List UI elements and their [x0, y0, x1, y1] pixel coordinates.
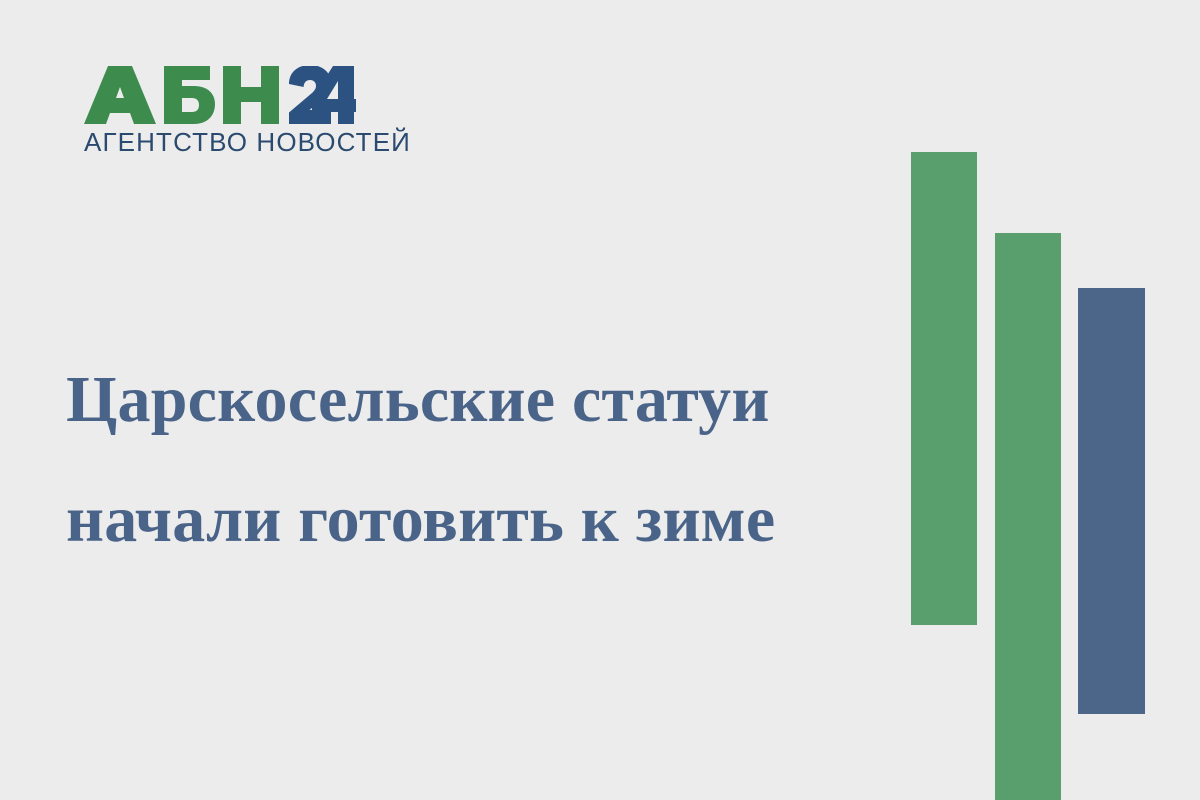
headline-line-1: Царскосельские статуи: [66, 340, 866, 460]
page-title: Царскосельские статуи начали готовить к …: [66, 340, 866, 580]
bar-tall-green: [911, 152, 977, 625]
abn24-logo[interactable]: АГЕНТСТВО НОВОСТЕЙ: [84, 66, 374, 158]
logo-tagline: АГЕНТСТВО НОВОСТЕЙ: [84, 131, 380, 157]
headline-line-2: начали готовить к зиме: [66, 460, 866, 580]
bar-mid-green: [995, 233, 1061, 800]
news-card: АГЕНТСТВО НОВОСТЕЙ Царскосельские статуи…: [0, 0, 1200, 800]
abn24-wordmark-icon: [84, 66, 356, 124]
bar-short-blue: [1078, 288, 1145, 714]
